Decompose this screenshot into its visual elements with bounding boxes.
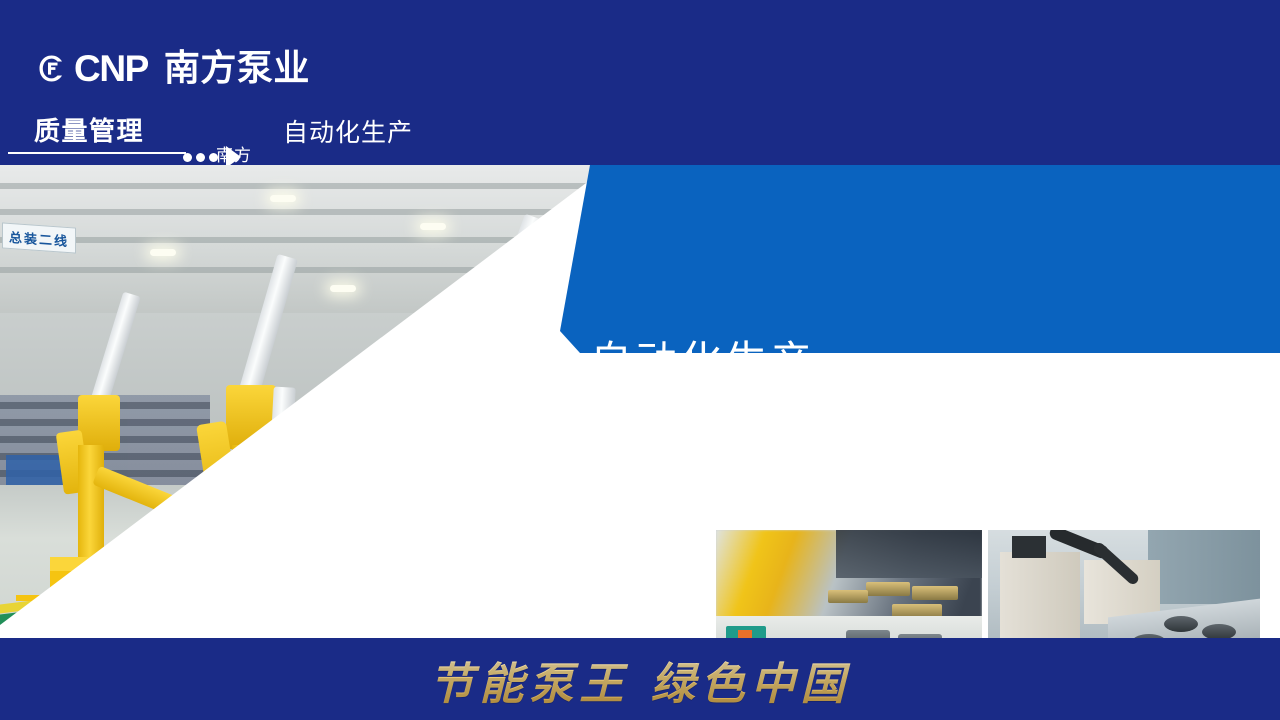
panel-body-line: 如今的南方泵业，将自动化技术覆盖到零部件加工生产、整泵装配 xyxy=(592,405,1012,430)
breadcrumb-sub: 南方 xyxy=(216,141,252,165)
page-header: CNP 南方泵业 质量管理 南方 自动化生产 xyxy=(0,0,1280,165)
nav-dot xyxy=(183,153,192,162)
page-footer: 节能泵王 绿色中国 xyxy=(0,638,1280,720)
cnp-circle-logo-icon xyxy=(38,54,65,83)
intro-panel xyxy=(560,165,1280,353)
assembly-line-sign-text: 总装二线 xyxy=(9,226,69,249)
nav-dot xyxy=(196,153,205,162)
panel-title: 自动化生产 xyxy=(590,341,815,383)
brand-logo[interactable]: CNP 南方泵业 xyxy=(38,50,310,87)
thumbnail-robot-line[interactable] xyxy=(988,530,1260,638)
section-title: 质量管理 xyxy=(34,111,144,148)
current-page-title: 自动化生产 xyxy=(283,113,413,149)
nav-underline xyxy=(8,152,186,154)
brand-logo-chinese: 南方泵业 xyxy=(164,51,310,87)
panel-body-line: 调试、出厂检验等诸多环节，将多年的制泵工艺沉淀和技术革新结 xyxy=(592,430,1012,455)
content-stage: 总装二线 xyxy=(0,165,1280,638)
brand-logo-latin: CNP xyxy=(74,50,148,87)
panel-body-line: 合到定制化的流水线作业，给客户带来科技制泵的服务体验。 xyxy=(592,455,1012,480)
footer-slogan: 节能泵王 绿色中国 xyxy=(0,648,1280,712)
assembly-line-sign: 总装二线 xyxy=(2,222,76,253)
thumbnail-assembly-line[interactable] xyxy=(716,530,982,638)
panel-body: 如今的南方泵业，将自动化技术覆盖到零部件加工生产、整泵装配 调试、出厂检验等诸多… xyxy=(592,405,1012,480)
